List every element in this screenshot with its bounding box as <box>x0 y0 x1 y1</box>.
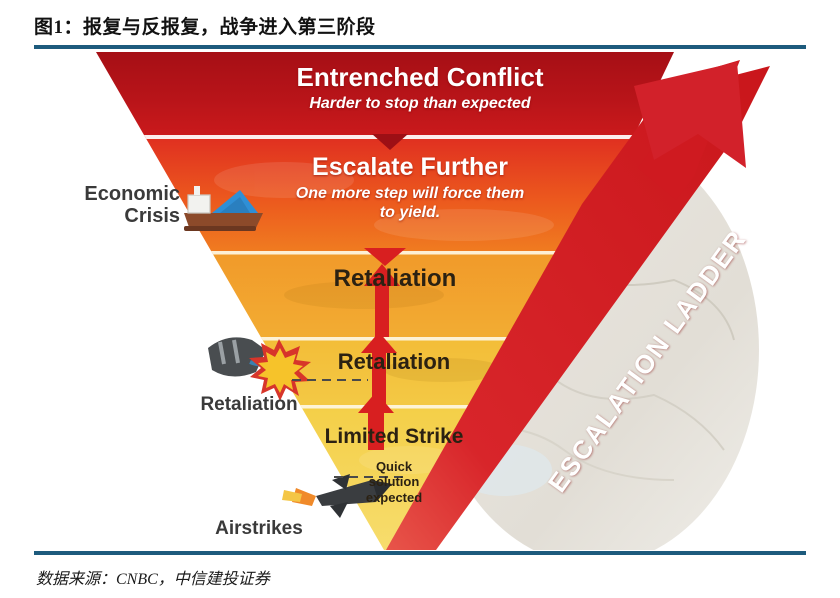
escalation-ladder-infographic: Entrenched Conflict Harder to stop than … <box>34 50 806 550</box>
figure-page: 图1：报复与反报复，战争进入第三阶段 <box>0 0 840 598</box>
side-label-airstrikes: Airstrikes <box>184 519 334 540</box>
source-note: 数据来源：CNBC，中信建投证券 <box>36 565 736 591</box>
side-label-economic-crisis: Economic Crisis <box>50 183 180 227</box>
page-title: 图1：报复与反报复，战争进入第三阶段 <box>34 12 794 42</box>
title-divider <box>34 45 806 49</box>
source-divider <box>34 551 806 555</box>
side-label-retaliation: Retaliation <box>174 395 324 416</box>
